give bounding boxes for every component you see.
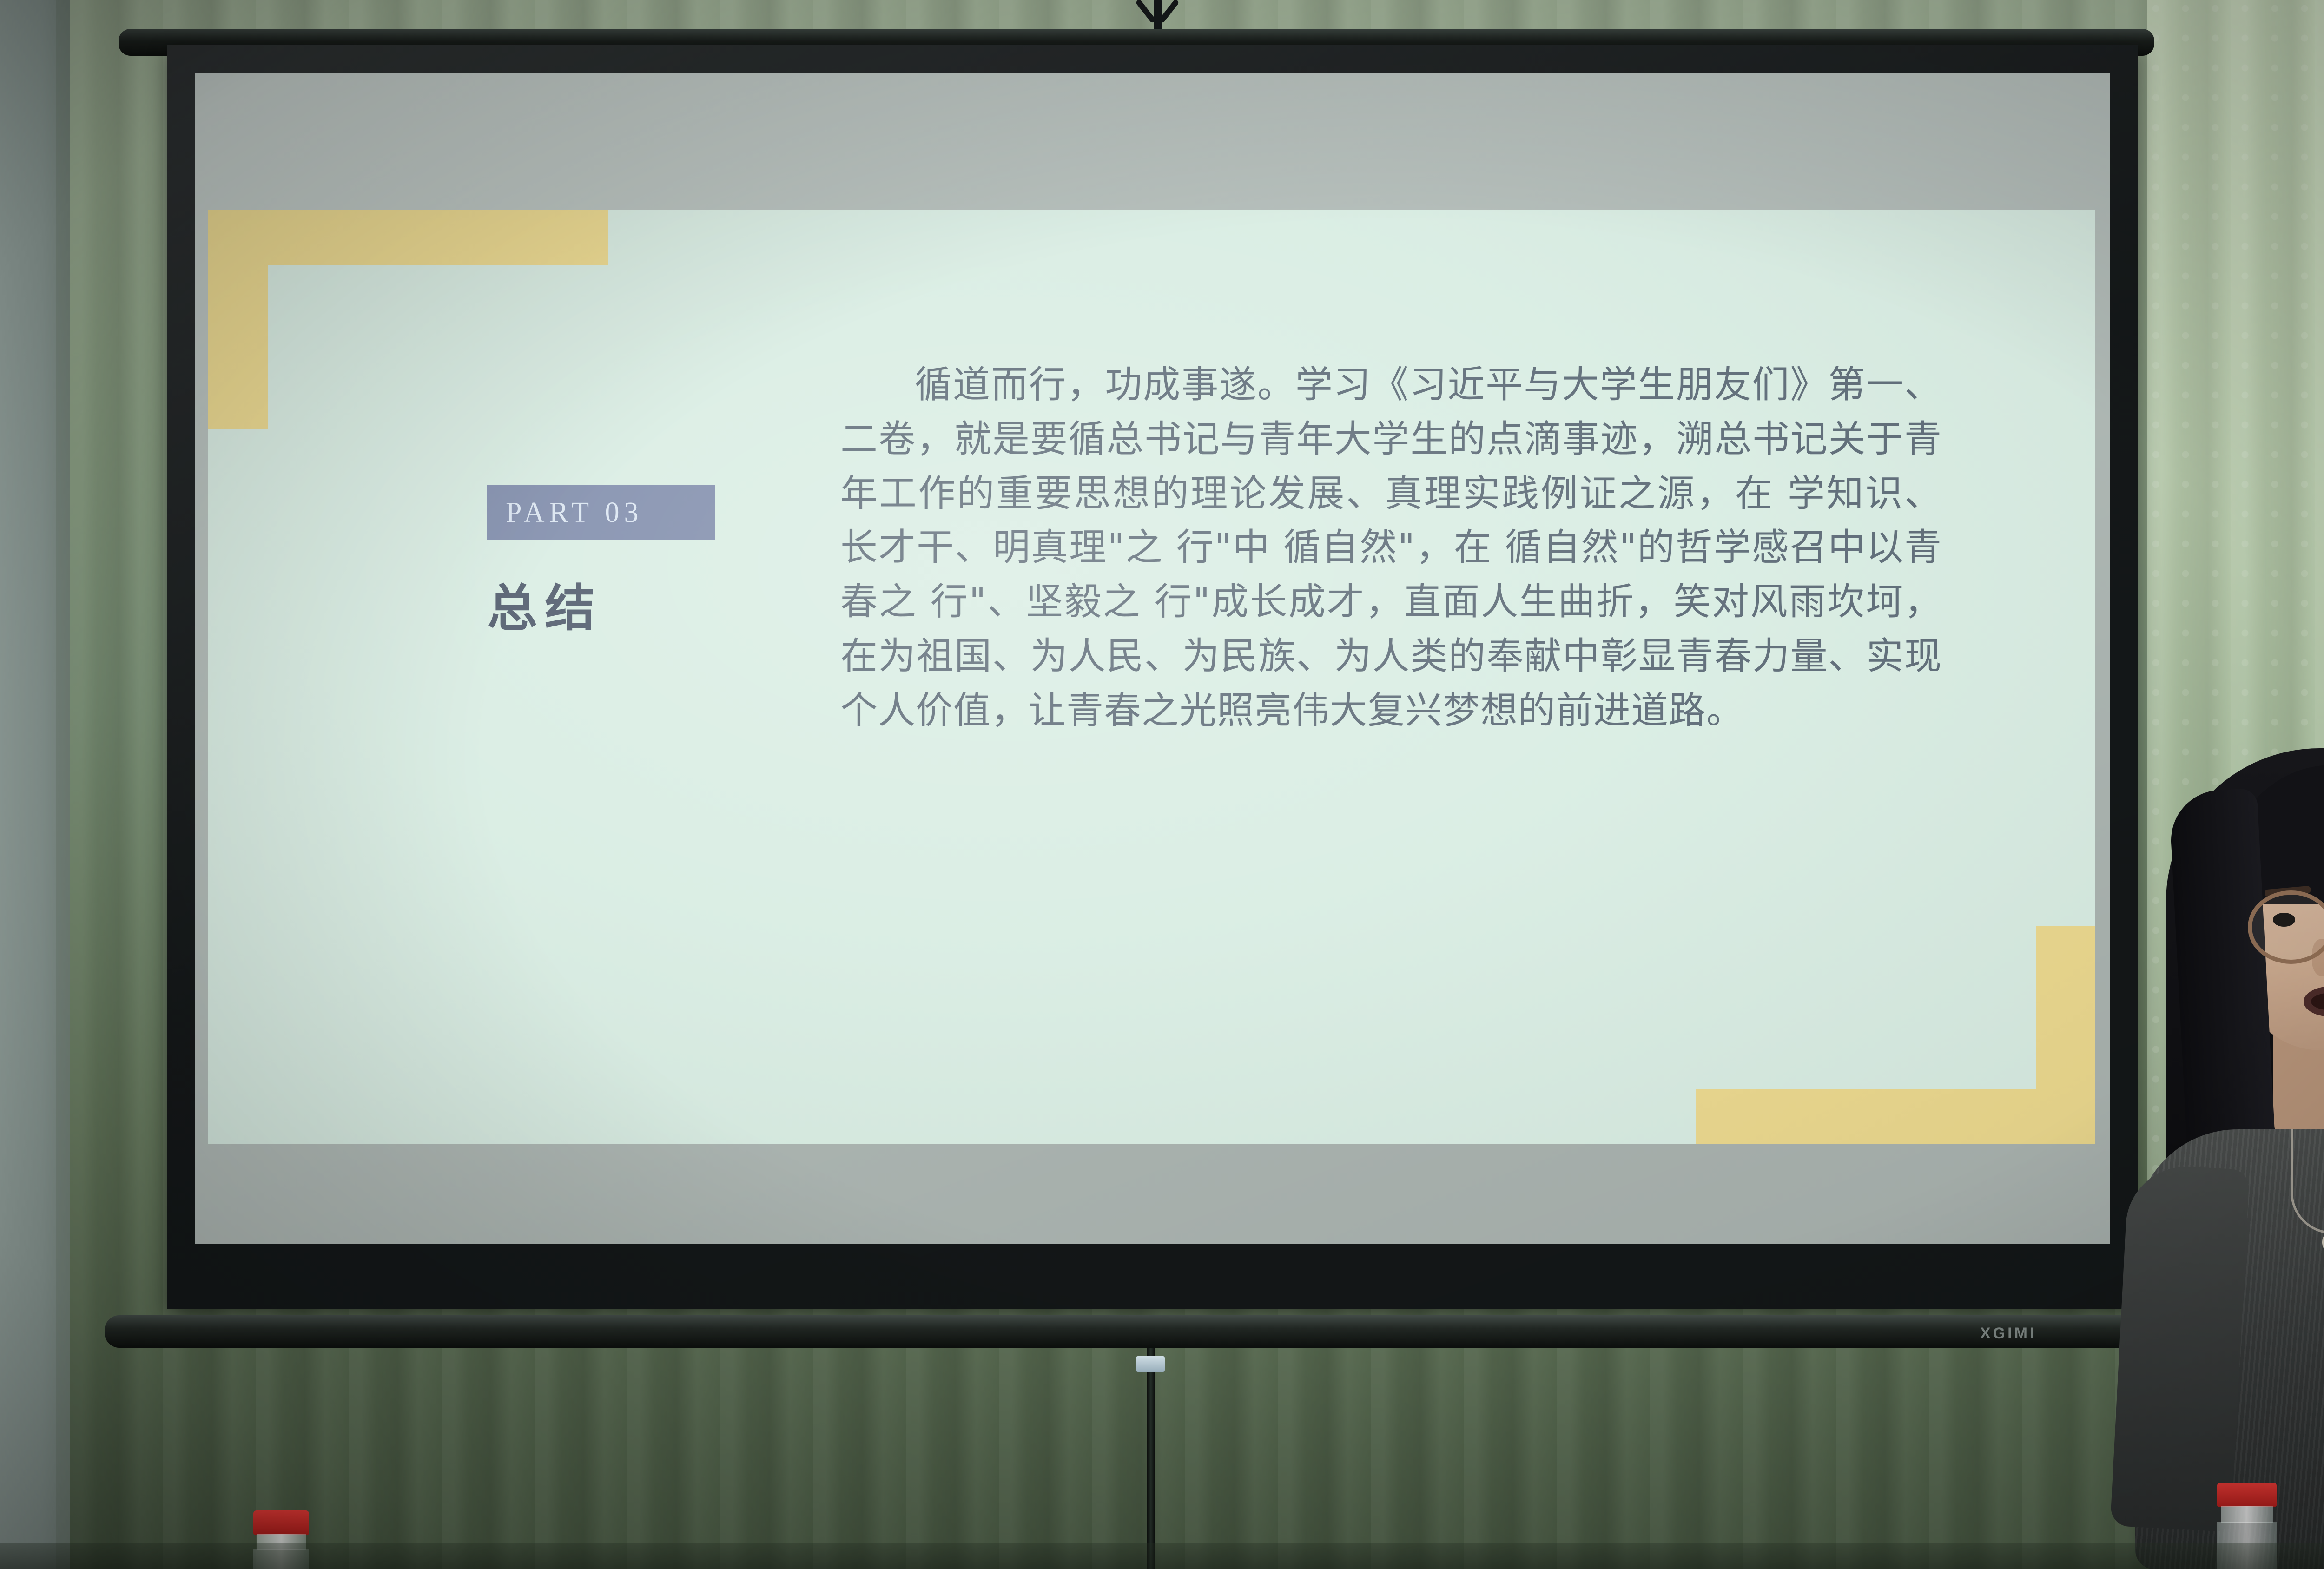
desk-edge xyxy=(0,1543,2324,1569)
presenter-nose xyxy=(2312,939,2324,976)
xgimi-brand-logo: XGIMI xyxy=(1980,1325,2036,1343)
slide-body-text: 循道而行，功成事遂。学习《习近平与大学生朋友们》第一、二卷，就是要循总书记与青年… xyxy=(840,358,1942,738)
screen-stand-pole xyxy=(1147,1348,1155,1569)
bottle-cap-icon xyxy=(2217,1483,2277,1507)
slide-section-title: 总结 xyxy=(487,568,602,640)
slide-part-label: PART 03 xyxy=(487,496,643,529)
bottle-cap-icon xyxy=(253,1510,309,1535)
corner-decoration-top-left xyxy=(208,210,608,429)
classroom-scene: PART 03 总结 循道而行，功成事遂。学习《习近平与大学生朋友们》第一、二卷… xyxy=(0,0,2324,1569)
slide-part-badge: PART 03 xyxy=(487,485,715,540)
presenter-arm-left xyxy=(2110,1164,2250,1532)
corner-decoration-bottom-right xyxy=(1696,926,2095,1144)
presenter-eye-left xyxy=(2273,913,2295,927)
presentation-slide: PART 03 总结 循道而行，功成事遂。学习《习近平与大学生朋友们》第一、二卷… xyxy=(208,210,2095,1144)
screen-bottom-roller xyxy=(105,1315,2164,1348)
presenter-figure xyxy=(2119,720,2324,1569)
screen-pole-tab xyxy=(1136,1356,1165,1372)
